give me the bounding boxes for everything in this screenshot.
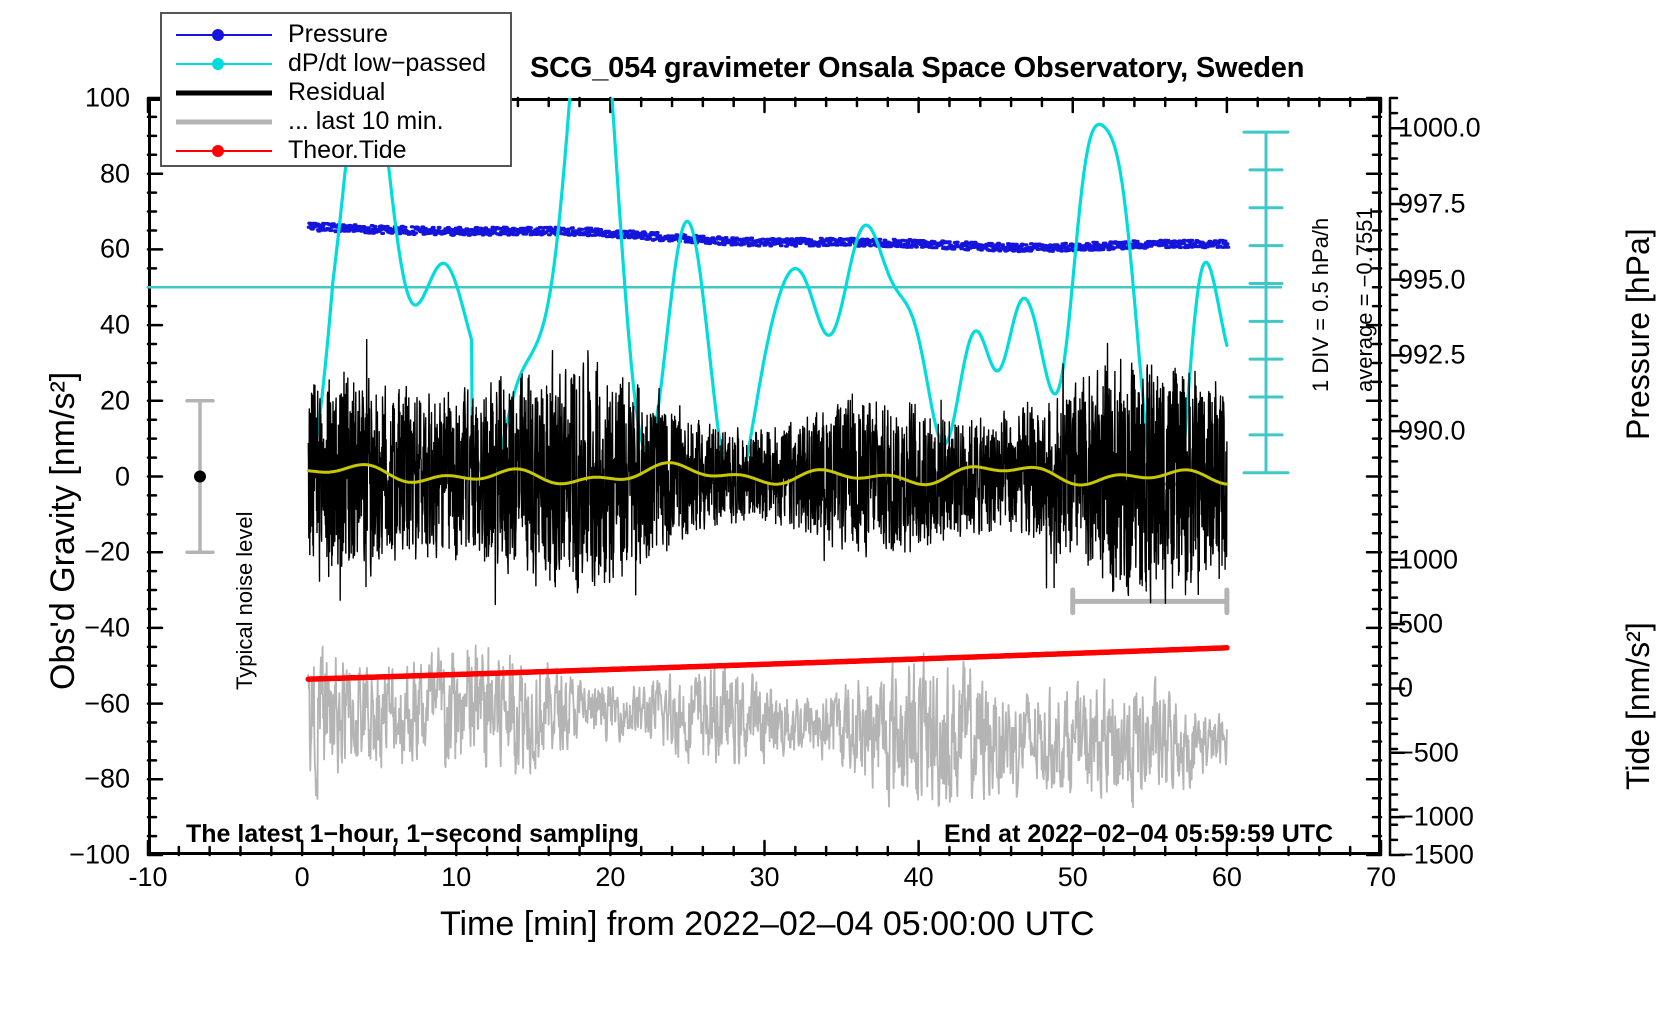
legend-swatch bbox=[176, 141, 272, 161]
x-axis-tick-label: -10 bbox=[128, 862, 167, 893]
annotation-average: average = −0.7551 bbox=[1352, 207, 1378, 392]
legend-swatch bbox=[176, 83, 272, 103]
y-axis-tick-label: −100 bbox=[10, 840, 130, 871]
x-axis-tick-label: 70 bbox=[1366, 862, 1396, 893]
legend-swatch bbox=[176, 25, 272, 45]
tide-axis-tick-label: −1000 bbox=[1398, 802, 1474, 833]
tide-axis-title: Tide [nm/s²] bbox=[1620, 622, 1657, 790]
legend-item[interactable]: dP/dt low−passed bbox=[162, 49, 510, 78]
legend-label: Residual bbox=[288, 78, 385, 107]
x-axis-tick-label: 50 bbox=[1058, 862, 1088, 893]
tide-axis-tick-label: −1500 bbox=[1398, 840, 1474, 871]
tide-axis-tick-label: 1000 bbox=[1398, 544, 1458, 575]
y-axis-tick-label: 60 bbox=[10, 234, 130, 265]
annotation-bottom-left: The latest 1−hour, 1−second sampling bbox=[186, 820, 639, 849]
pressure-axis-tick-label: 992.5 bbox=[1398, 340, 1466, 371]
x-axis-tick-label: 20 bbox=[595, 862, 625, 893]
chart-root: SCG_054 gravimeter Onsala Space Observat… bbox=[0, 0, 1660, 1020]
annotation-noise-level: Typical noise level bbox=[232, 511, 258, 690]
x-axis-title: Time [min] from 2022‒02‒04 05:00:00 UTC bbox=[440, 905, 1095, 944]
legend-item[interactable]: Residual bbox=[162, 78, 510, 107]
y-axis-tick-label: 40 bbox=[10, 310, 130, 341]
legend-item[interactable]: ... last 10 min. bbox=[162, 107, 510, 136]
y-axis-title: Obs'd Gravity [nm/s²] bbox=[44, 372, 83, 690]
pressure-axis-tick-label: 995.0 bbox=[1398, 264, 1466, 295]
legend-swatch bbox=[176, 112, 272, 132]
x-axis-tick-label: 10 bbox=[441, 862, 471, 893]
legend: PressuredP/dt low−passedResidual... last… bbox=[160, 12, 512, 167]
tide-axis-tick-label: 500 bbox=[1398, 609, 1443, 640]
legend-label: ... last 10 min. bbox=[288, 107, 444, 136]
chart-title: SCG_054 gravimeter Onsala Space Observat… bbox=[530, 52, 1304, 85]
legend-item[interactable]: Pressure bbox=[162, 20, 510, 49]
pressure-axis-title: Pressure [hPa] bbox=[1620, 228, 1657, 440]
legend-label: Theor.Tide bbox=[288, 136, 407, 165]
legend-swatch bbox=[176, 54, 272, 74]
annotation-bottom-right: End at 2022−02−04 05:59:59 UTC bbox=[944, 820, 1333, 849]
pressure-axis-tick-label: 997.5 bbox=[1398, 188, 1466, 219]
x-axis-tick-label: 30 bbox=[749, 862, 779, 893]
plot-area bbox=[148, 98, 1381, 855]
x-axis-tick-label: 60 bbox=[1212, 862, 1242, 893]
y-axis-tick-label: −60 bbox=[10, 688, 130, 719]
y-axis-tick-label: −80 bbox=[10, 764, 130, 795]
legend-item[interactable]: Theor.Tide bbox=[162, 136, 510, 165]
legend-label: dP/dt low−passed bbox=[288, 49, 486, 78]
pressure-axis-tick-label: 1000.0 bbox=[1398, 113, 1481, 144]
x-axis-tick-label: 40 bbox=[904, 862, 934, 893]
x-axis-tick-label: 0 bbox=[295, 862, 310, 893]
tide-axis-tick-label: −500 bbox=[1398, 737, 1459, 768]
legend-label: Pressure bbox=[288, 20, 388, 49]
annotation-div-scale: 1 DIV = 0.5 hPa/h bbox=[1308, 218, 1334, 392]
y-axis-tick-label: 100 bbox=[10, 83, 130, 114]
pressure-axis-tick-label: 990.0 bbox=[1398, 416, 1466, 447]
tide-axis-tick-label: 0 bbox=[1398, 673, 1413, 704]
y-axis-tick-label: 80 bbox=[10, 158, 130, 189]
